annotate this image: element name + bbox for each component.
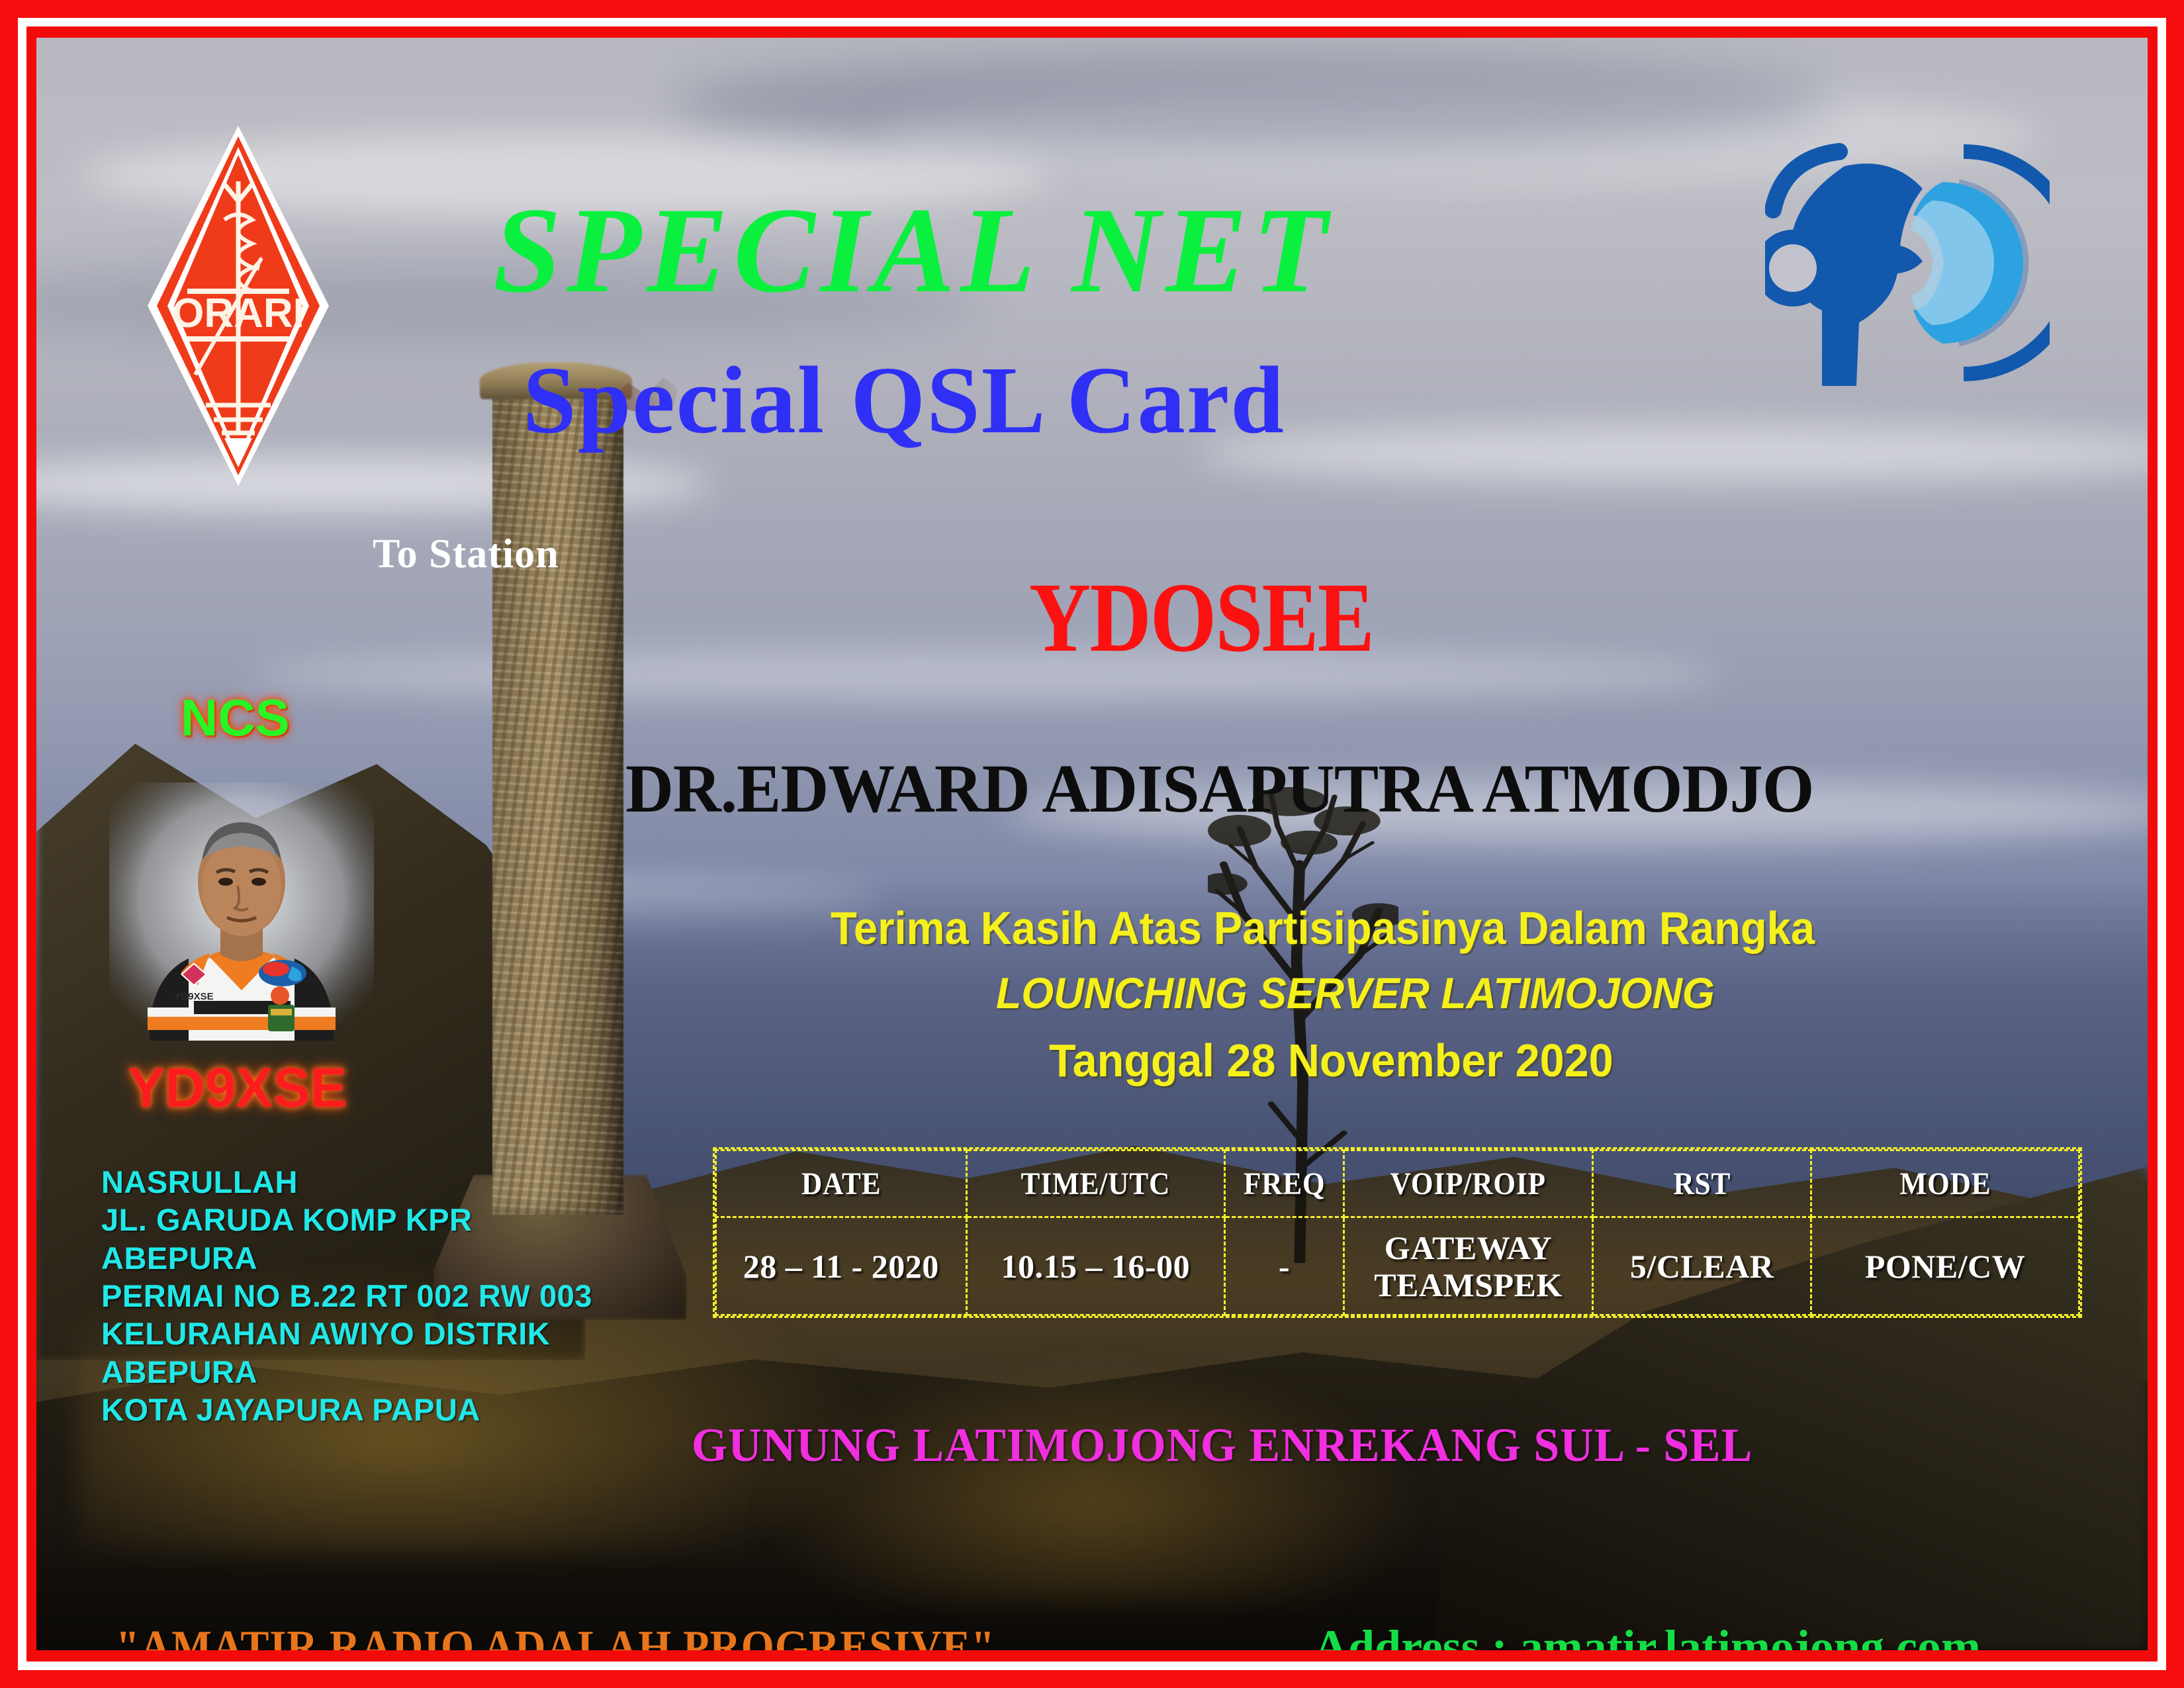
footer-motto: "AMATIR RADIO ADALAH PROGRESIVE" bbox=[116, 1621, 995, 1650]
cell-time: 10.15 – 16-00 bbox=[966, 1217, 1225, 1315]
stone-cairn-monument bbox=[492, 377, 623, 1215]
station-callsign: YDOSEE bbox=[1029, 561, 1373, 675]
location-line: GUNUNG LATIMOJONG ENREKANG SUL - SEL bbox=[692, 1418, 1752, 1473]
grass-highlight bbox=[754, 1360, 1430, 1602]
table-header-row: DATE TIME/UTC FREQ VOIP/ROIP RST MODE bbox=[716, 1150, 2079, 1217]
uniform-patch-callsign: YD9XSE bbox=[174, 991, 213, 1002]
column-header-freq: FREQ bbox=[1231, 1150, 1338, 1217]
address-line: JL. GARUDA KOMP KPR bbox=[101, 1201, 670, 1239]
to-station-label: To Station bbox=[373, 531, 559, 578]
column-header-date: DATE bbox=[728, 1150, 954, 1217]
cell-voip-line2: TEAMSPEK bbox=[1345, 1266, 1591, 1303]
ncs-operator-photo: YD9XSE bbox=[109, 782, 374, 1041]
station-address: NASRULLAH JL. GARUDA KOMP KPR ABEPURA PE… bbox=[101, 1163, 670, 1429]
page-title: SPECIAL NET bbox=[493, 180, 1332, 321]
orari-logo: ORARI bbox=[142, 120, 334, 491]
cell-voip-line1: GATEWAY bbox=[1345, 1229, 1591, 1266]
page-subtitle: Special QSL Card bbox=[523, 346, 1285, 455]
column-header-voip: VOIP/ROIP bbox=[1356, 1150, 1580, 1217]
orari-logo-text: ORARI bbox=[172, 291, 304, 336]
card-background-photo: ORARI SPECIAL NET Special QSL Card To St… bbox=[36, 38, 2148, 1650]
dark-cloud-band bbox=[670, 54, 1831, 150]
footer-web-address: Address : amatir.latimojong.com bbox=[1314, 1620, 1981, 1650]
operator-name: DR.EDWARD ADISAPUTRA ATMODJO bbox=[625, 749, 1813, 828]
cell-freq: - bbox=[1225, 1217, 1344, 1315]
qsl-card: ORARI SPECIAL NET Special QSL Card To St… bbox=[0, 0, 2184, 1688]
table-row: 28 – 11 - 2020 10.15 – 16-00 - GATEWAY T… bbox=[716, 1217, 2079, 1315]
qso-log-table: DATE TIME/UTC FREQ VOIP/ROIP RST MODE 28… bbox=[713, 1147, 2082, 1318]
cloud-band bbox=[248, 651, 1725, 699]
event-date: Tanggal 28 November 2020 bbox=[1049, 1034, 1614, 1087]
cell-voip: GATEWAY TEAMSPEK bbox=[1343, 1217, 1592, 1315]
cell-mode: PONE/CW bbox=[1811, 1217, 2079, 1315]
address-line: ABEPURA bbox=[101, 1239, 670, 1277]
ncs-callsign: YD9XSE bbox=[128, 1056, 347, 1120]
address-line: KOTA JAYAPURA PAPUA bbox=[101, 1391, 670, 1429]
cell-rst: 5/CLEAR bbox=[1593, 1217, 1811, 1315]
column-header-mode: MODE bbox=[1825, 1150, 2066, 1217]
address-line: PERMAI NO B.22 RT 002 RW 003 bbox=[101, 1277, 670, 1315]
cell-date: 28 – 11 - 2020 bbox=[716, 1217, 967, 1315]
voip-headset-logo bbox=[1765, 137, 2050, 389]
address-line: NASRULLAH bbox=[101, 1163, 670, 1201]
event-name: LOUNCHING SERVER LATIMOJONG bbox=[996, 968, 1715, 1018]
address-line: ABEPURA bbox=[101, 1353, 670, 1391]
column-header-rst: RST bbox=[1604, 1150, 1800, 1217]
address-line: KELURAHAN AWIYO DISTRIK bbox=[101, 1315, 670, 1352]
ncs-label: NCS bbox=[181, 688, 290, 748]
thanks-line-1: Terima Kasih Atas Partisipasinya Dalam R… bbox=[831, 902, 1815, 955]
column-header-time: TIME/UTC bbox=[979, 1150, 1212, 1217]
